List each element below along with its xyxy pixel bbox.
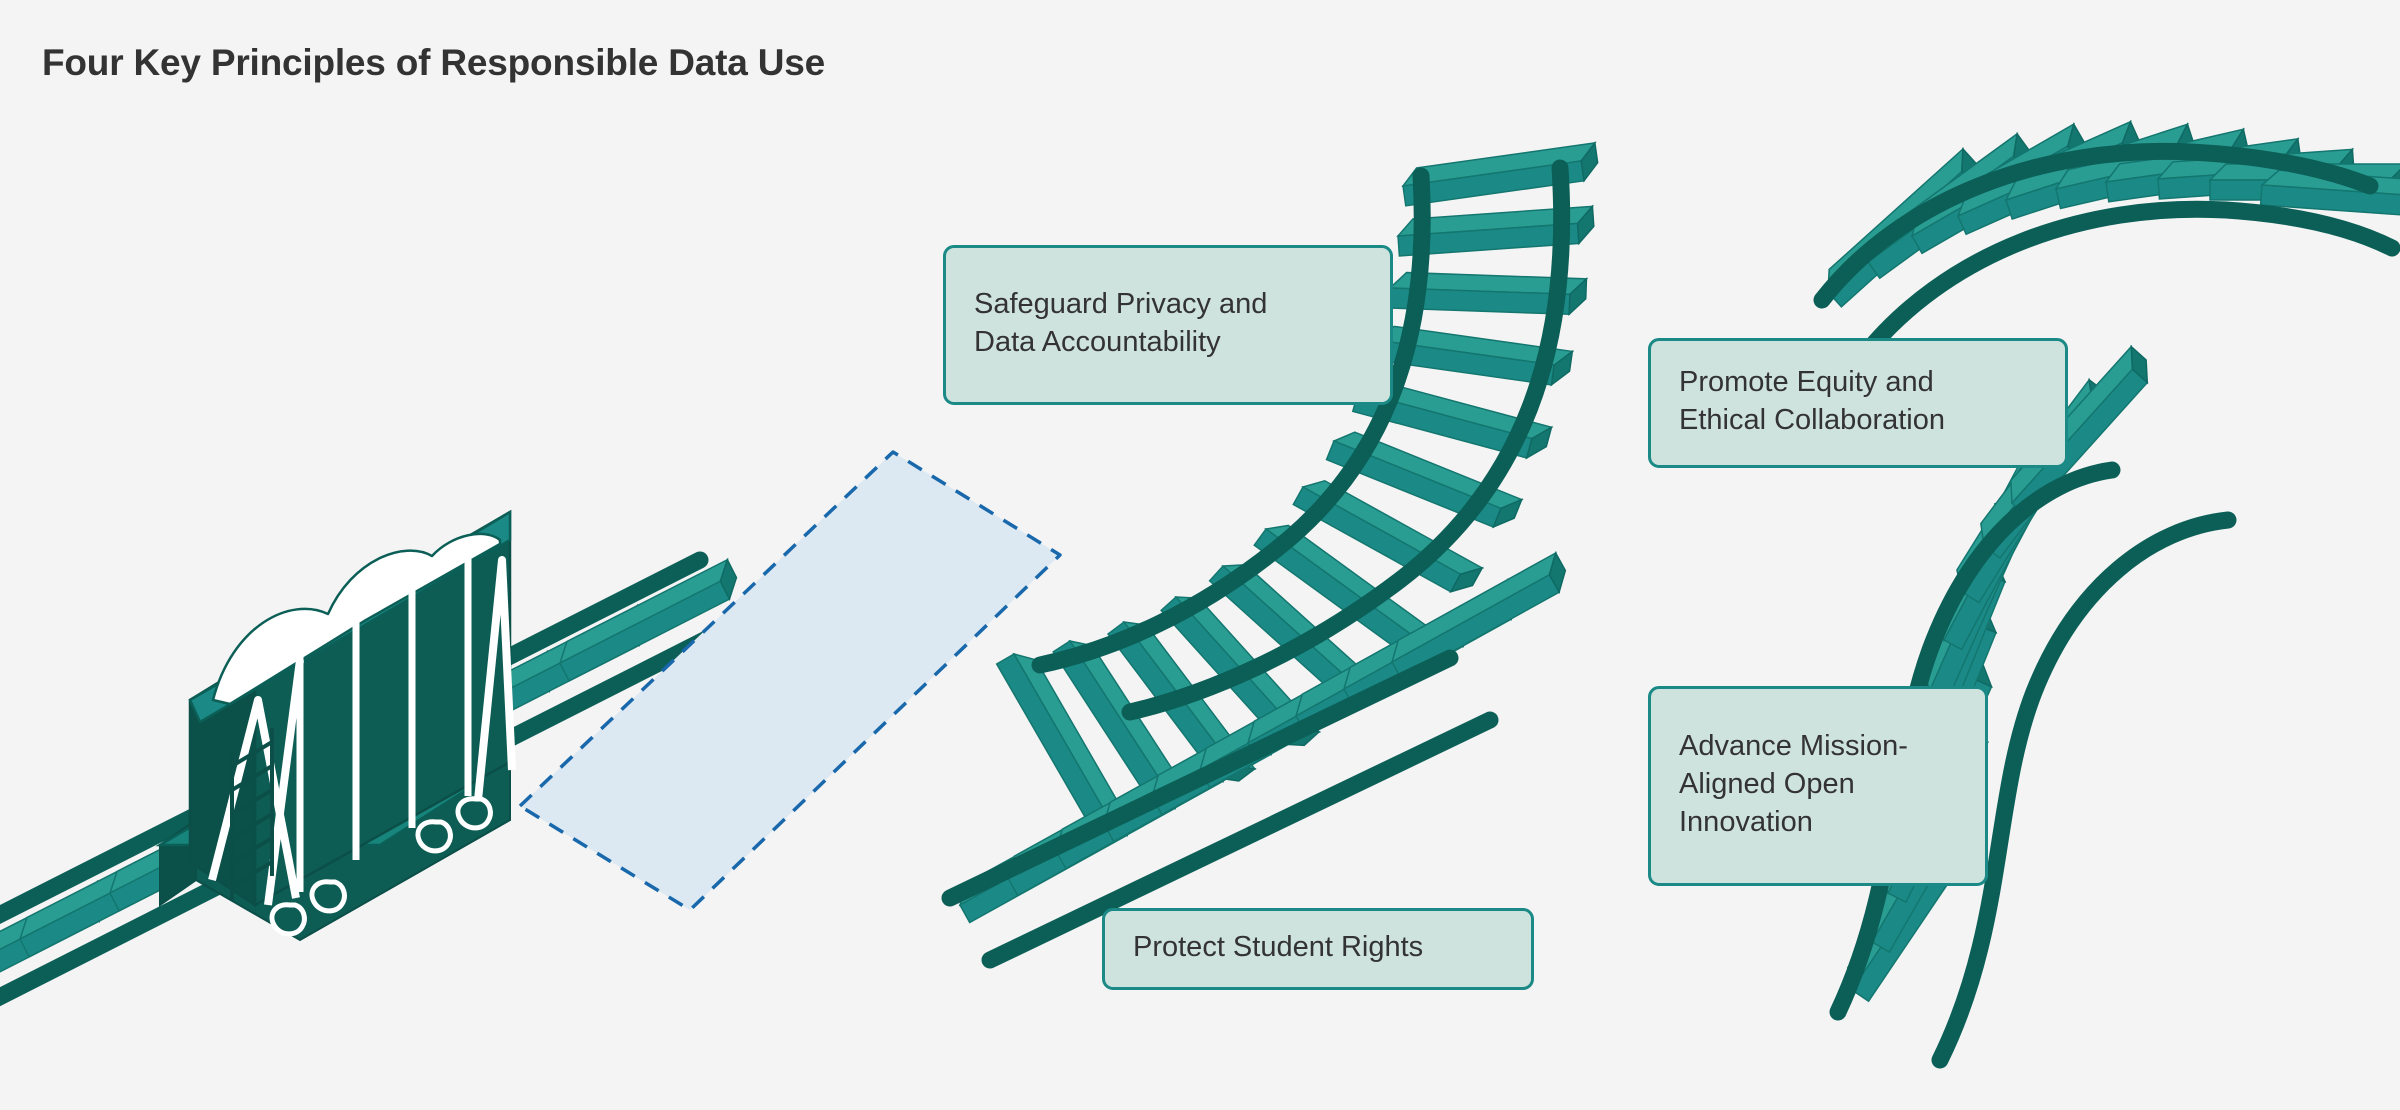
- principle-line: Ethical Collaboration: [1679, 402, 1945, 440]
- principle-card-advance[interactable]: Advance Mission- Aligned Open Innovation: [1648, 686, 1988, 886]
- infographic-canvas: Four Key Principles of Responsible Data …: [0, 0, 2400, 1110]
- principle-line: Promote Equity and: [1679, 364, 1945, 402]
- principle-card-equity[interactable]: Promote Equity and Ethical Collaboration: [1648, 338, 2068, 468]
- principle-line: Innovation: [1679, 804, 1908, 842]
- principle-line: Aligned Open: [1679, 766, 1908, 804]
- principle-line: Safeguard Privacy and: [974, 286, 1267, 324]
- principle-line: Protect Student Rights: [1133, 929, 1423, 967]
- principle-card-protect[interactable]: Protect Student Rights: [1102, 908, 1534, 990]
- track-equity: [1817, 122, 2400, 358]
- principle-line: Advance Mission-: [1679, 728, 1908, 766]
- principle-line: Data Accountability: [974, 324, 1267, 362]
- principle-card-safeguard[interactable]: Safeguard Privacy and Data Accountabilit…: [943, 245, 1393, 405]
- track-drop-zone[interactable]: [520, 452, 1060, 910]
- hopper-car[interactable]: [160, 512, 512, 940]
